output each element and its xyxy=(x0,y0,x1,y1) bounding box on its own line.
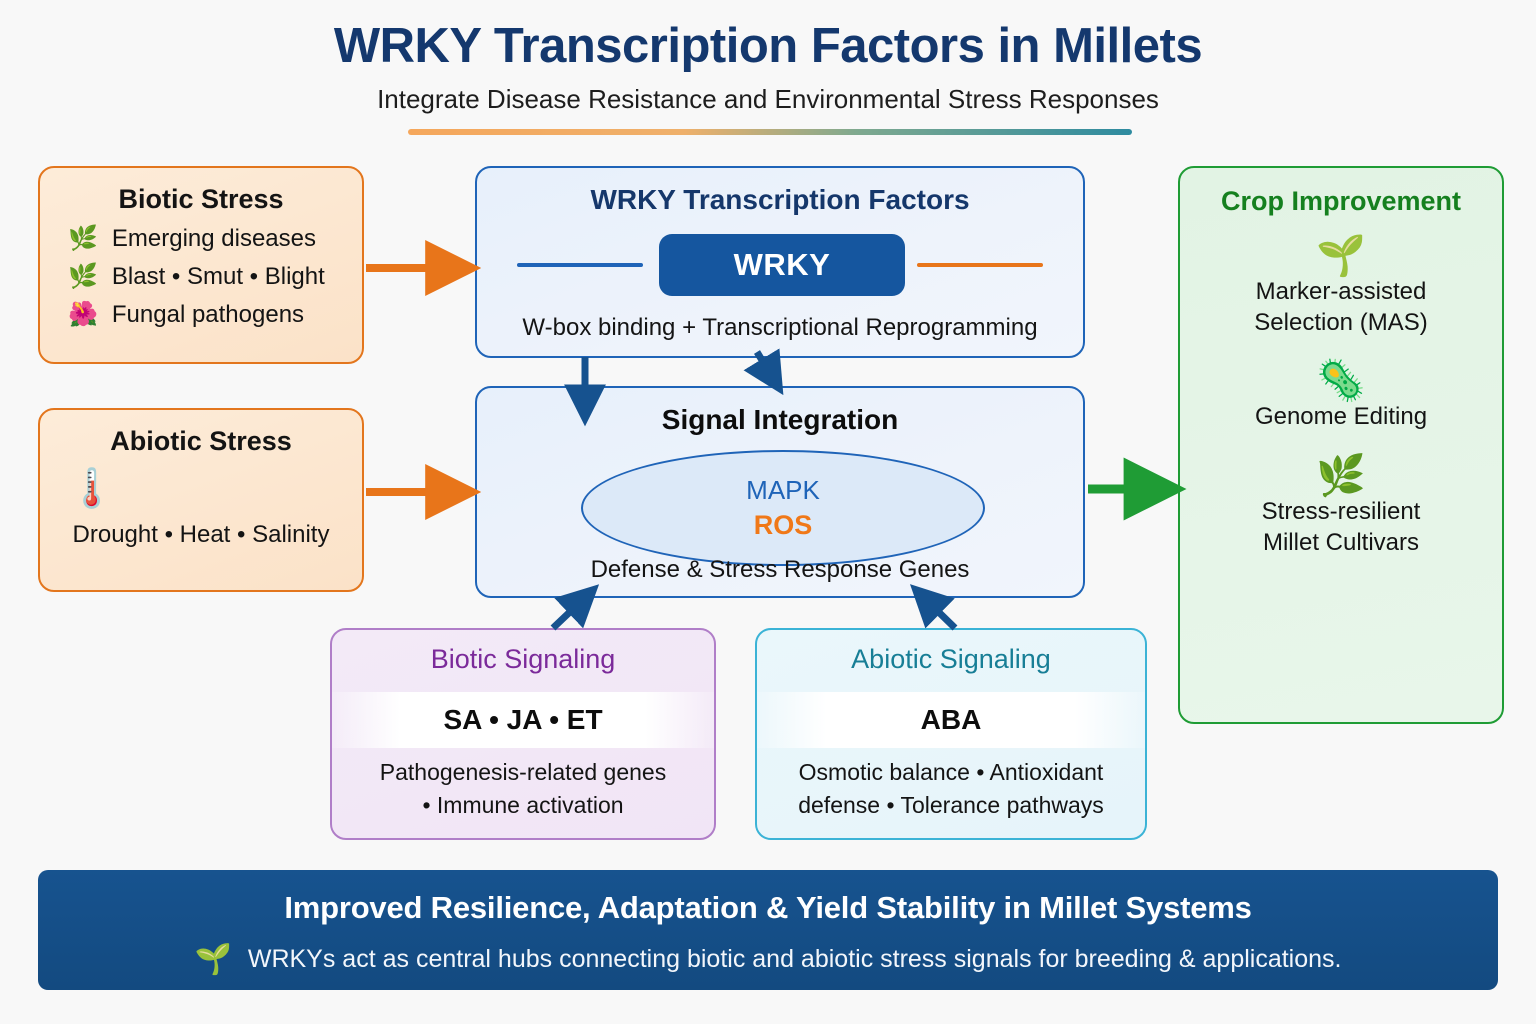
crop-improvement-box: Crop Improvement 🌱 Marker-assisted Selec… xyxy=(1178,166,1504,724)
ros-label: ROS xyxy=(754,510,813,541)
abiotic-stress-box: Abiotic Stress 🌡️ Drought • Heat • Salin… xyxy=(38,408,364,592)
crop-item-label: Genome Editing xyxy=(1180,402,1502,433)
biotic-signaling-desc-line2: • Immune activation xyxy=(332,789,714,822)
page-subtitle: Integrate Disease Resistance and Environ… xyxy=(0,84,1536,115)
biotic-stress-item-label: Emerging diseases xyxy=(112,225,316,253)
mapk-ros-ellipse: MAPK ROS xyxy=(581,450,985,566)
biotic-signaling-band: SA • JA • ET xyxy=(332,692,714,748)
abiotic-signaling-band: ABA xyxy=(757,692,1145,748)
seedling-icon: 🌱 xyxy=(195,942,232,977)
wrky-rule-left xyxy=(517,263,643,267)
abiotic-signaling-desc-line2: defense • Tolerance pathways xyxy=(757,789,1145,822)
banner-subtext: WRKYs act as central hubs connecting bio… xyxy=(248,945,1342,974)
wrky-box-title: WRKY Transcription Factors xyxy=(477,184,1083,216)
crop-improvement-item: 🌱 Marker-assisted Selection (MAS) xyxy=(1180,235,1502,338)
herb-icon: 🌿 xyxy=(68,224,98,253)
banner-heading: Improved Resilience, Adaptation & Yield … xyxy=(38,890,1498,926)
abiotic-signaling-title: Abiotic Signaling xyxy=(757,644,1145,675)
crop-item-label: Millet Cultivars xyxy=(1180,528,1502,559)
rosette-icon: 🌺 xyxy=(68,300,98,329)
biotic-stress-item: 🌺 Fungal pathogens xyxy=(40,300,362,329)
biotic-stress-item: 🌿 Emerging diseases xyxy=(40,224,362,253)
header-divider xyxy=(408,129,1132,135)
dna-leaf-icon: 🦠 xyxy=(1180,360,1502,402)
crop-item-label: Marker-assisted xyxy=(1180,277,1502,308)
biotic-stress-item-label: Fungal pathogens xyxy=(112,301,304,329)
crop-improvement-title: Crop Improvement xyxy=(1180,186,1502,217)
signal-integration-box: Signal Integration MAPK ROS Defense & St… xyxy=(475,386,1085,598)
herb-leaves-icon: 🌿 xyxy=(1180,455,1502,497)
biotic-signaling-desc-line1: Pathogenesis-related genes xyxy=(332,756,714,789)
mapk-label: MAPK xyxy=(746,475,820,506)
wrky-transcription-factors-box: WRKY Transcription Factors WRKY W-box bi… xyxy=(475,166,1085,358)
crop-item-label: Stress-resilient xyxy=(1180,497,1502,528)
page-title: WRKY Transcription Factors in Millets xyxy=(0,18,1536,74)
banner-subtext-row: 🌱 WRKYs act as central hubs connecting b… xyxy=(38,942,1498,977)
biotic-stress-title: Biotic Stress xyxy=(40,184,362,215)
abiotic-signaling-desc-line1: Osmotic balance • Antioxidant xyxy=(757,756,1145,789)
abiotic-stress-line: Drought • Heat • Salinity xyxy=(40,521,362,549)
signal-integration-title: Signal Integration xyxy=(477,404,1083,436)
biotic-stress-item: 🌿 Blast • Smut • Blight xyxy=(40,262,362,291)
wrky-rule-right xyxy=(917,263,1043,267)
crop-improvement-item: 🦠 Genome Editing xyxy=(1180,360,1502,433)
crop-item-label: Selection (MAS) xyxy=(1180,308,1502,339)
biotic-stress-item-label: Blast • Smut • Blight xyxy=(112,263,325,291)
crop-improvement-item: 🌿 Stress-resilient Millet Cultivars xyxy=(1180,455,1502,558)
abiotic-stress-title: Abiotic Stress xyxy=(40,426,362,457)
sun-thermometer-icon: 🌡️ xyxy=(40,467,362,511)
biotic-signaling-box: Biotic Signaling SA • JA • ET Pathogenes… xyxy=(330,628,716,840)
summary-banner: Improved Resilience, Adaptation & Yield … xyxy=(38,870,1498,990)
seedling-sprout-icon: 🌱 xyxy=(1180,235,1502,277)
signal-integration-caption: Defense & Stress Response Genes xyxy=(477,556,1083,584)
herb-icon: 🌿 xyxy=(68,262,98,291)
wrky-chip: WRKY xyxy=(659,234,905,296)
abiotic-signaling-box: Abiotic Signaling ABA Osmotic balance • … xyxy=(755,628,1147,840)
biotic-stress-box: Biotic Stress 🌿 Emerging diseases 🌿 Blas… xyxy=(38,166,364,364)
wrky-box-caption: W-box binding + Transcriptional Reprogra… xyxy=(477,314,1083,342)
infographic-canvas: WRKY Transcription Factors in Millets In… xyxy=(0,0,1536,1024)
biotic-signaling-title: Biotic Signaling xyxy=(332,644,714,675)
